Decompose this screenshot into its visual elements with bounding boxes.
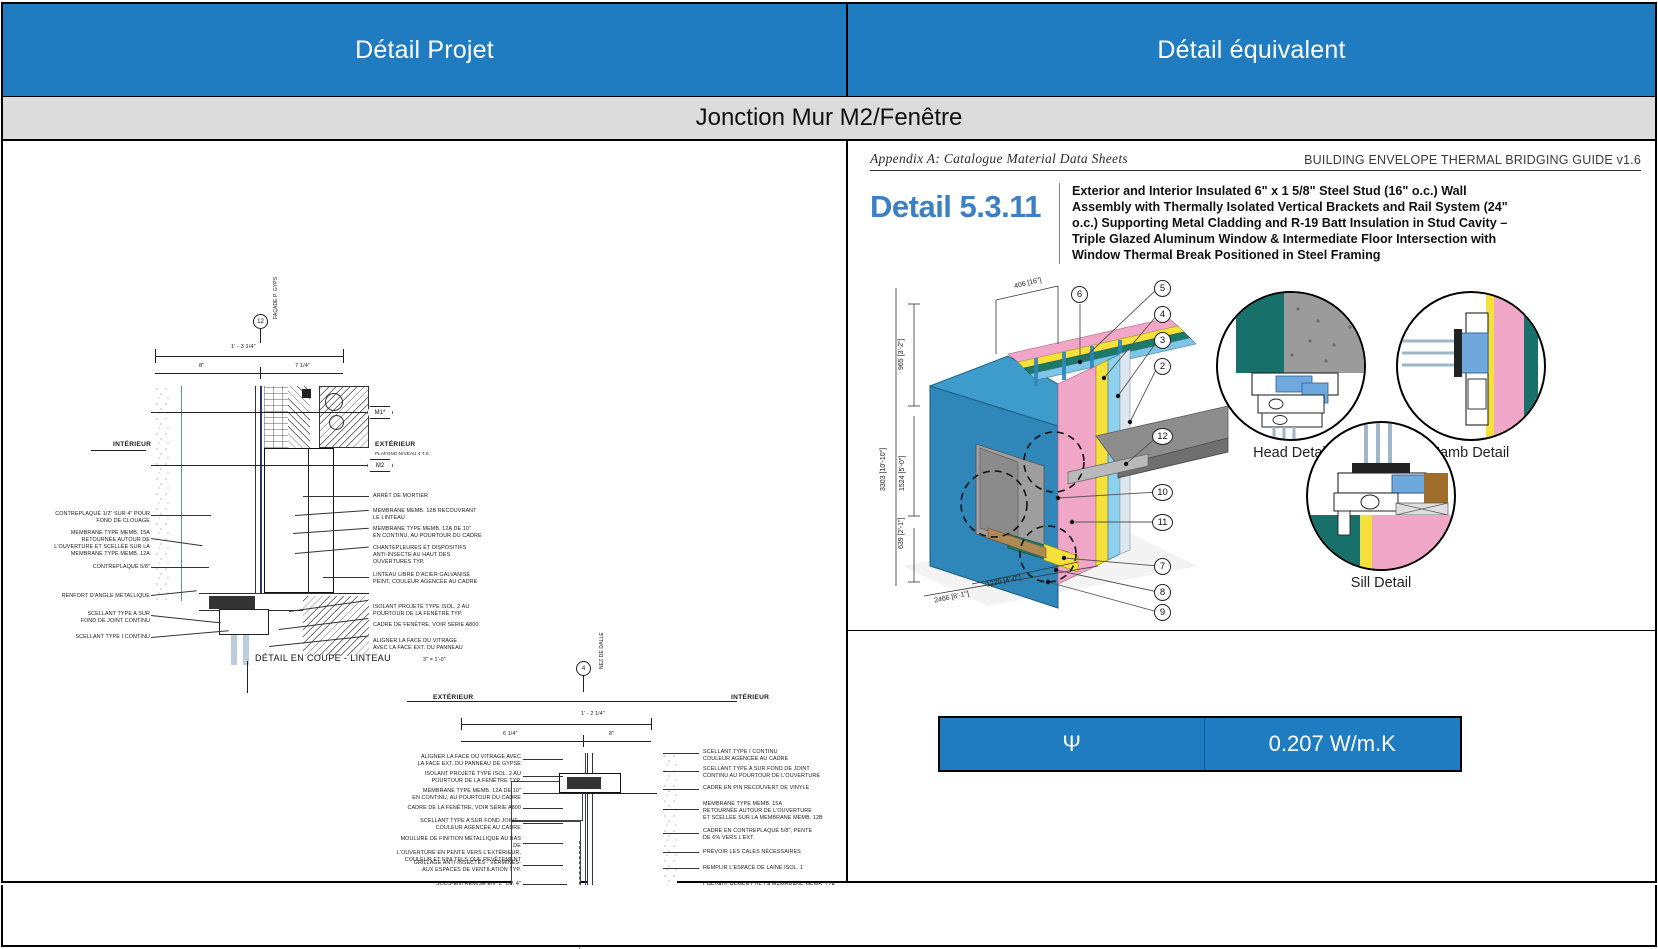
dim-tick xyxy=(155,349,156,363)
sill-section-line xyxy=(407,701,737,702)
note-leader xyxy=(523,776,563,777)
dim-tick xyxy=(260,367,261,379)
dim-tick xyxy=(461,718,462,730)
callout-bubble-12: 12 xyxy=(253,314,268,329)
psi-row: Ψ 0.207 W/m.K xyxy=(939,717,1461,771)
note-leader xyxy=(303,496,369,497)
jamb-detail-circle xyxy=(1396,291,1546,441)
note-left-2: CONTREPLAQUÉ 5/8" xyxy=(45,564,150,571)
callout-leader xyxy=(583,676,584,692)
rebar-circle xyxy=(329,415,344,430)
sill-detail-label: Sill Detail xyxy=(1306,575,1456,591)
note-leader xyxy=(523,759,563,760)
label-exterieur: EXTÉRIEUR xyxy=(375,441,415,448)
note-leader xyxy=(663,833,699,834)
dim-line-total-sill xyxy=(461,724,651,725)
detail-number: Detail 5.3.11 xyxy=(870,183,1045,225)
note-right-0: ARRÊT DE MORTIER xyxy=(373,493,503,500)
catalogue-sheet: Appendix A: Catalogue Material Data Shee… xyxy=(848,141,1655,631)
sill-note-right-2: CADRE EN PIN RECOUVERT DE VINYLE xyxy=(703,785,831,792)
note-leader xyxy=(151,567,209,568)
label-exterieur-sub: PLAFOND NIVEAU 4 T.S. xyxy=(375,450,430,457)
note-leader xyxy=(523,823,563,824)
rebar-circle xyxy=(325,393,343,411)
callout-11: 11 xyxy=(1152,514,1173,531)
note-leader xyxy=(663,789,699,790)
isometric-assembly-drawing: 406 [16"] 965 [3'-2"] 3303 [10'-10"] 152… xyxy=(868,266,1238,616)
header-right-title: Détail équivalent xyxy=(848,4,1655,96)
sill-dim-left: 6 1/4" xyxy=(503,731,518,738)
head-detail-circle xyxy=(1216,291,1366,441)
note-right-5: ISOLANT PROJETÉ TYPE ISOL. 2 AU POURTOUR… xyxy=(373,604,505,618)
nez-de-dalle-note: NEZ DE DALLE xyxy=(599,632,606,669)
sill-note-right-1: SCELLANT TYPE A SUR FOND DE JOINT CONTIN… xyxy=(703,766,833,780)
sill-pan-flashing xyxy=(559,793,657,794)
sill-detail-circle xyxy=(1306,421,1456,571)
note-right-2: MEMBRANE TYPE MEMB. 12A DE 10" EN CONTIN… xyxy=(373,526,508,540)
dim-right-label: 7 1/4" xyxy=(295,363,310,370)
dim-total-label: 1' - 3 1/4" xyxy=(231,344,256,351)
note-leader xyxy=(523,808,563,809)
note-right-1: MEMBRANE MEMB. 12B RECOUVRANT LE LINTEAU xyxy=(373,508,505,522)
lintel-detail-title: DÉTAIL EN COUPE - LINTEAU xyxy=(255,655,391,662)
callout-2: 2 xyxy=(1154,358,1171,375)
catalogue-doc-header: Appendix A: Catalogue Material Data Shee… xyxy=(870,151,1641,171)
dim-height-total: 3303 [10'-10"] xyxy=(880,448,887,491)
dim-line-parts-sill xyxy=(461,741,651,742)
note-right-7: ALIGNER LA FACE DU VITRAGE AVEC LA FACE … xyxy=(373,638,508,652)
note-leader xyxy=(523,843,563,844)
detail-heading-block: Detail 5.3.11 Exterior and Interior Insu… xyxy=(870,183,1641,264)
sill-label-interieur: INTÉRIEUR xyxy=(731,694,769,701)
interior-leader xyxy=(91,450,146,451)
title-leader xyxy=(247,661,248,693)
callout-3: 3 xyxy=(1154,332,1171,349)
callout-10: 10 xyxy=(1152,484,1173,501)
note-leader xyxy=(663,753,699,754)
equivalent-detail-pane: Appendix A: Catalogue Material Data Shee… xyxy=(848,141,1655,881)
sill-glazing-line xyxy=(585,753,586,773)
footer-frame xyxy=(1,885,1657,947)
callout-4: 4 xyxy=(1154,306,1171,323)
dim-tick xyxy=(651,718,652,730)
head-detail-svg xyxy=(1218,293,1366,441)
detail-comparison-sheet: Détail Projet Détail équivalent Jonction… xyxy=(0,0,1658,949)
callout-9: 9 xyxy=(1154,604,1171,621)
note-left-5: SCELLANT TYPE I CONTINU xyxy=(45,634,150,641)
membrane-air-barrier xyxy=(261,386,262,601)
window-frame-solid xyxy=(209,596,255,609)
sill-label-exterieur: EXTÉRIEUR xyxy=(433,694,473,701)
guide-title: BUILDING ENVELOPE THERMAL BRIDGING GUIDE… xyxy=(1304,153,1641,167)
glazing-pane xyxy=(243,635,249,665)
level-line-m2 xyxy=(151,465,367,466)
dim-height-top: 965 [3'-2"] xyxy=(898,339,906,370)
note-left-1: MEMBRANE TYPE MEMB. 15A RETOURNÉE AUTOUR… xyxy=(15,530,150,558)
tag-m2: M2 xyxy=(367,459,393,472)
dim-line-parts xyxy=(155,373,343,374)
note-left-0: CONTREPLAQUÉ 1/2" SUR 4" POUR FOND DE CL… xyxy=(25,511,150,525)
lintel-detail-scale: 3" = 1'-0" xyxy=(423,657,446,664)
dim-height-mid: 1524 [5'-0"] xyxy=(899,456,906,491)
cad-drawing-lintel: 12 FAÇADE P. GYPS 1' - 3 1/4" 8" 7 1/4" xyxy=(3,141,846,881)
lintel-web xyxy=(308,448,309,593)
psi-symbol-cell: Ψ xyxy=(939,717,1204,771)
anchor-clip xyxy=(302,389,311,398)
body-row: 12 FAÇADE P. GYPS 1' - 3 1/4" 8" 7 1/4" xyxy=(1,141,1657,883)
callout-8: 8 xyxy=(1154,584,1171,601)
sill-note-right-5: PRÉVOIR LES CALES NÉCESSAIRES xyxy=(703,849,831,856)
sill-note-left-6: GRILLAGE ANTI-INSECTES - VERMINES- AUX E… xyxy=(395,860,521,874)
note-leader xyxy=(151,630,229,638)
psi-table-wrapper: Ψ 0.207 W/m.K xyxy=(938,716,1462,772)
lintel-box xyxy=(264,448,334,593)
label-interieur: INTÉRIEUR xyxy=(113,441,151,448)
callout-6: 6 xyxy=(1071,286,1088,303)
note-leader xyxy=(663,868,699,869)
header-row: Détail Projet Détail équivalent xyxy=(1,2,1657,97)
note-leader xyxy=(151,515,211,516)
psi-table: Ψ 0.207 W/m.K xyxy=(938,716,1462,772)
sill-note-left-0: ALIGNER LA FACE DU VITRAGE AVEC LA FACE … xyxy=(403,754,521,768)
note-leader xyxy=(523,793,563,794)
sill-note-right-6: REMPLIR L'ESPACE DE LAINE ISOL. 1 xyxy=(703,865,831,872)
level-line-m1 xyxy=(151,412,367,413)
dim-tick xyxy=(583,735,584,747)
sill-note-right-4: CADRE EN CONTREPLAQUÉ 5/8", PENTE DE 6% … xyxy=(703,828,831,842)
exterior-cladding xyxy=(264,386,288,448)
tag-m1: M1* xyxy=(367,406,393,419)
note-left-4: SCELLANT TYPE A SUR FOND DE JOINT CONTIN… xyxy=(45,611,150,625)
sill-note-left-3: CADRE DE LA FENÊTRE, VOIR SÉRIE A800 xyxy=(403,805,521,812)
sill-note-right-3: MEMBRANE TYPE MEMB. 15A RETOURNÉE AUTOUR… xyxy=(703,801,835,822)
sill-note-left-1: ISOLANT PROJETÉ TYPE ISOL. 2 AU POURTOUR… xyxy=(403,771,521,785)
header-left-title: Détail Projet xyxy=(3,4,848,96)
sill-dim-right: 8" xyxy=(609,731,614,738)
isometric-svg xyxy=(868,266,1238,616)
note-left-3: RENFORT D'ANGLE MÉTALLIQUE xyxy=(25,593,150,600)
detail-description: Exterior and Interior Insulated 6" x 1 5… xyxy=(1059,183,1529,264)
dim-left-label: 8" xyxy=(199,363,204,370)
note-leader xyxy=(663,809,699,810)
note-leader xyxy=(663,771,699,772)
sill-note-left-4: SCELLANT TYPE A SUR FOND JOINT - COULEUR… xyxy=(403,818,521,832)
appendix-label: Appendix A: Catalogue Material Data Shee… xyxy=(870,151,1128,167)
callout-bubble-4: 4 xyxy=(576,661,591,676)
callout-7: 7 xyxy=(1154,558,1171,575)
sub-header-junction-title: Jonction Mur M2/Fenêtre xyxy=(1,97,1657,141)
project-detail-pane: 12 FAÇADE P. GYPS 1' - 3 1/4" 8" 7 1/4" xyxy=(3,141,848,881)
gypsum-layer xyxy=(155,386,169,601)
dim-line-total xyxy=(155,356,343,357)
note-right-6: CADRE DE FENÊTRE, VOIR SÉRIE A800 xyxy=(373,622,508,629)
glazing-pane xyxy=(231,635,237,665)
note-leader xyxy=(151,615,221,623)
dim-tick xyxy=(343,349,344,363)
sill-dim-total: 1' - 2 1/4" xyxy=(581,711,605,718)
jamb-detail-svg xyxy=(1398,293,1546,441)
note-leader xyxy=(523,865,563,866)
callout-12: 12 xyxy=(1152,428,1173,445)
psi-value-area: Ψ 0.207 W/m.K xyxy=(848,631,1655,881)
sill-frame-solid xyxy=(567,777,601,789)
dim-height-bottom: 639 [2'-1"] xyxy=(898,518,906,549)
sill-note-left-2: MEMBRANE TYPE MEMB. 12A DE 10" EN CONTIN… xyxy=(403,788,521,802)
note-leader xyxy=(323,577,369,578)
membrane-vapour-barrier xyxy=(181,386,182,601)
note-leader xyxy=(663,852,699,853)
sill-detail-svg xyxy=(1308,423,1456,571)
psi-value-cell: 0.207 W/m.K xyxy=(1204,717,1461,771)
note-right-3: CHANTEPLEURES ET DISPOSITIFS ANTI-INSECT… xyxy=(373,545,503,566)
sill-note-right-0: SCELLANT TYPE I CONTINU COULEUR AGENCÉE … xyxy=(703,749,831,763)
callout-leader xyxy=(260,329,261,343)
facade-gypse-note: FAÇADE P. GYPS xyxy=(273,277,280,319)
note-right-4: LINTEAU LIBRE D'ACIER GALVANISÉ PEINT, C… xyxy=(373,572,508,586)
callout-5: 5 xyxy=(1154,280,1171,297)
